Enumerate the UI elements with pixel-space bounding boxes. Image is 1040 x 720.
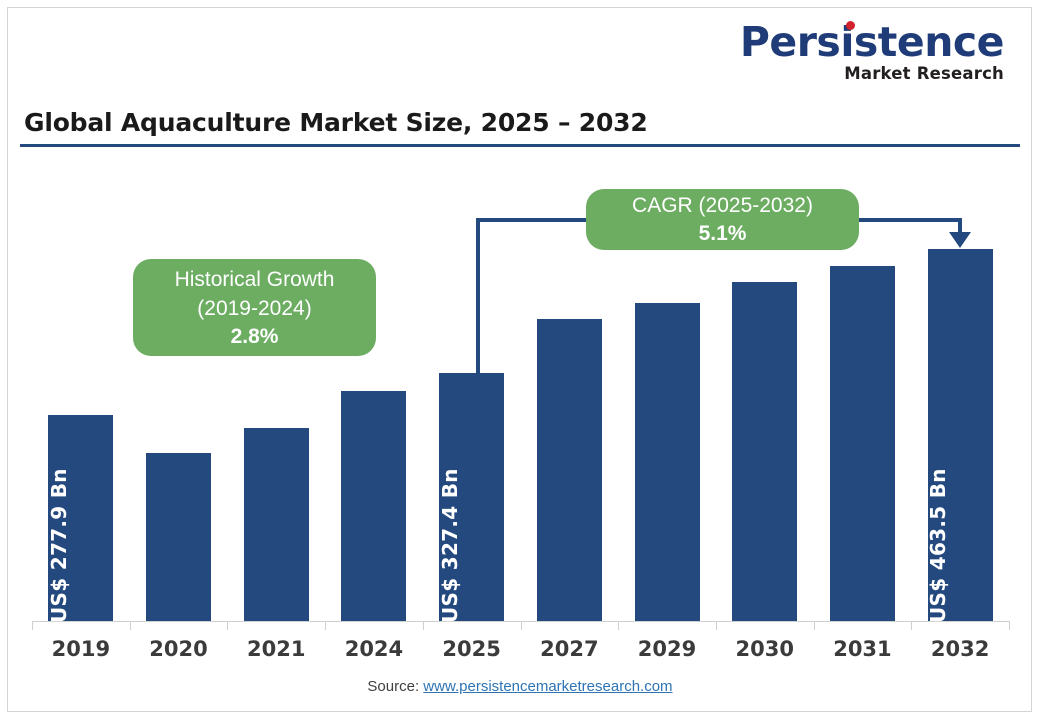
x-axis-tick-3 <box>325 621 326 630</box>
callout-historical-value: 2.8% <box>231 323 279 351</box>
x-axis-tick-4 <box>423 621 424 630</box>
bar-2024 <box>341 391 406 621</box>
x-axis-label-2032: 2032 <box>911 637 1009 661</box>
x-axis-label-2027: 2027 <box>521 637 619 661</box>
callout-historical-line1: Historical Growth <box>175 265 335 294</box>
x-axis-tick-6 <box>618 621 619 630</box>
bar-2020 <box>146 453 211 621</box>
x-axis-tick-8 <box>814 621 815 630</box>
callout-cagr-value: 5.1% <box>699 220 747 248</box>
x-axis-label-2031: 2031 <box>814 637 912 661</box>
x-axis-label-2019: 2019 <box>32 637 130 661</box>
bar-2030 <box>732 282 797 621</box>
x-axis-tick-end <box>1009 621 1010 630</box>
source-link[interactable]: www.persistencemarketresearch.com <box>423 678 672 695</box>
source-prefix: Source: <box>367 678 423 695</box>
callout-historical-growth: Historical Growth (2019-2024) 2.8% <box>133 259 376 356</box>
x-axis-tick-0 <box>32 621 33 630</box>
bar-2027 <box>537 319 602 621</box>
connector-horizontal-left <box>476 218 590 222</box>
x-axis-label-2020: 2020 <box>130 637 228 661</box>
x-axis-label-2025: 2025 <box>423 637 521 661</box>
callout-historical-line2: (2019-2024) <box>197 294 311 323</box>
connector-vertical-left <box>476 218 480 375</box>
callout-cagr: CAGR (2025-2032) 5.1% <box>586 189 859 250</box>
x-axis-tick-7 <box>716 621 717 630</box>
x-axis-label-2024: 2024 <box>325 637 423 661</box>
bar-2031 <box>830 266 895 621</box>
source-line: Source: www.persistencemarketresearch.co… <box>0 678 1040 695</box>
bar-chart: US$ 277.9 Bn2019202020212024US$ 327.4 Bn… <box>0 0 1040 720</box>
bar-value-label-2019: US$ 277.9 Bn <box>47 468 71 623</box>
x-axis-label-2030: 2030 <box>716 637 814 661</box>
x-axis-tick-2 <box>227 621 228 630</box>
x-axis-tick-1 <box>130 621 131 630</box>
connector-arrowhead-icon <box>949 232 971 248</box>
x-axis-tick-9 <box>911 621 912 630</box>
bar-value-label-2032: US$ 463.5 Bn <box>926 468 950 623</box>
chart-page: Persistence Market Research Global Aquac… <box>0 0 1040 720</box>
bar-2021 <box>244 428 309 621</box>
x-axis-label-2029: 2029 <box>618 637 716 661</box>
x-axis-label-2021: 2021 <box>227 637 325 661</box>
callout-cagr-line1: CAGR (2025-2032) <box>632 191 813 220</box>
bar-2029 <box>635 303 700 621</box>
bar-value-label-2025: US$ 327.4 Bn <box>438 468 462 623</box>
connector-horizontal-right <box>855 218 962 222</box>
x-axis-tick-5 <box>521 621 522 630</box>
